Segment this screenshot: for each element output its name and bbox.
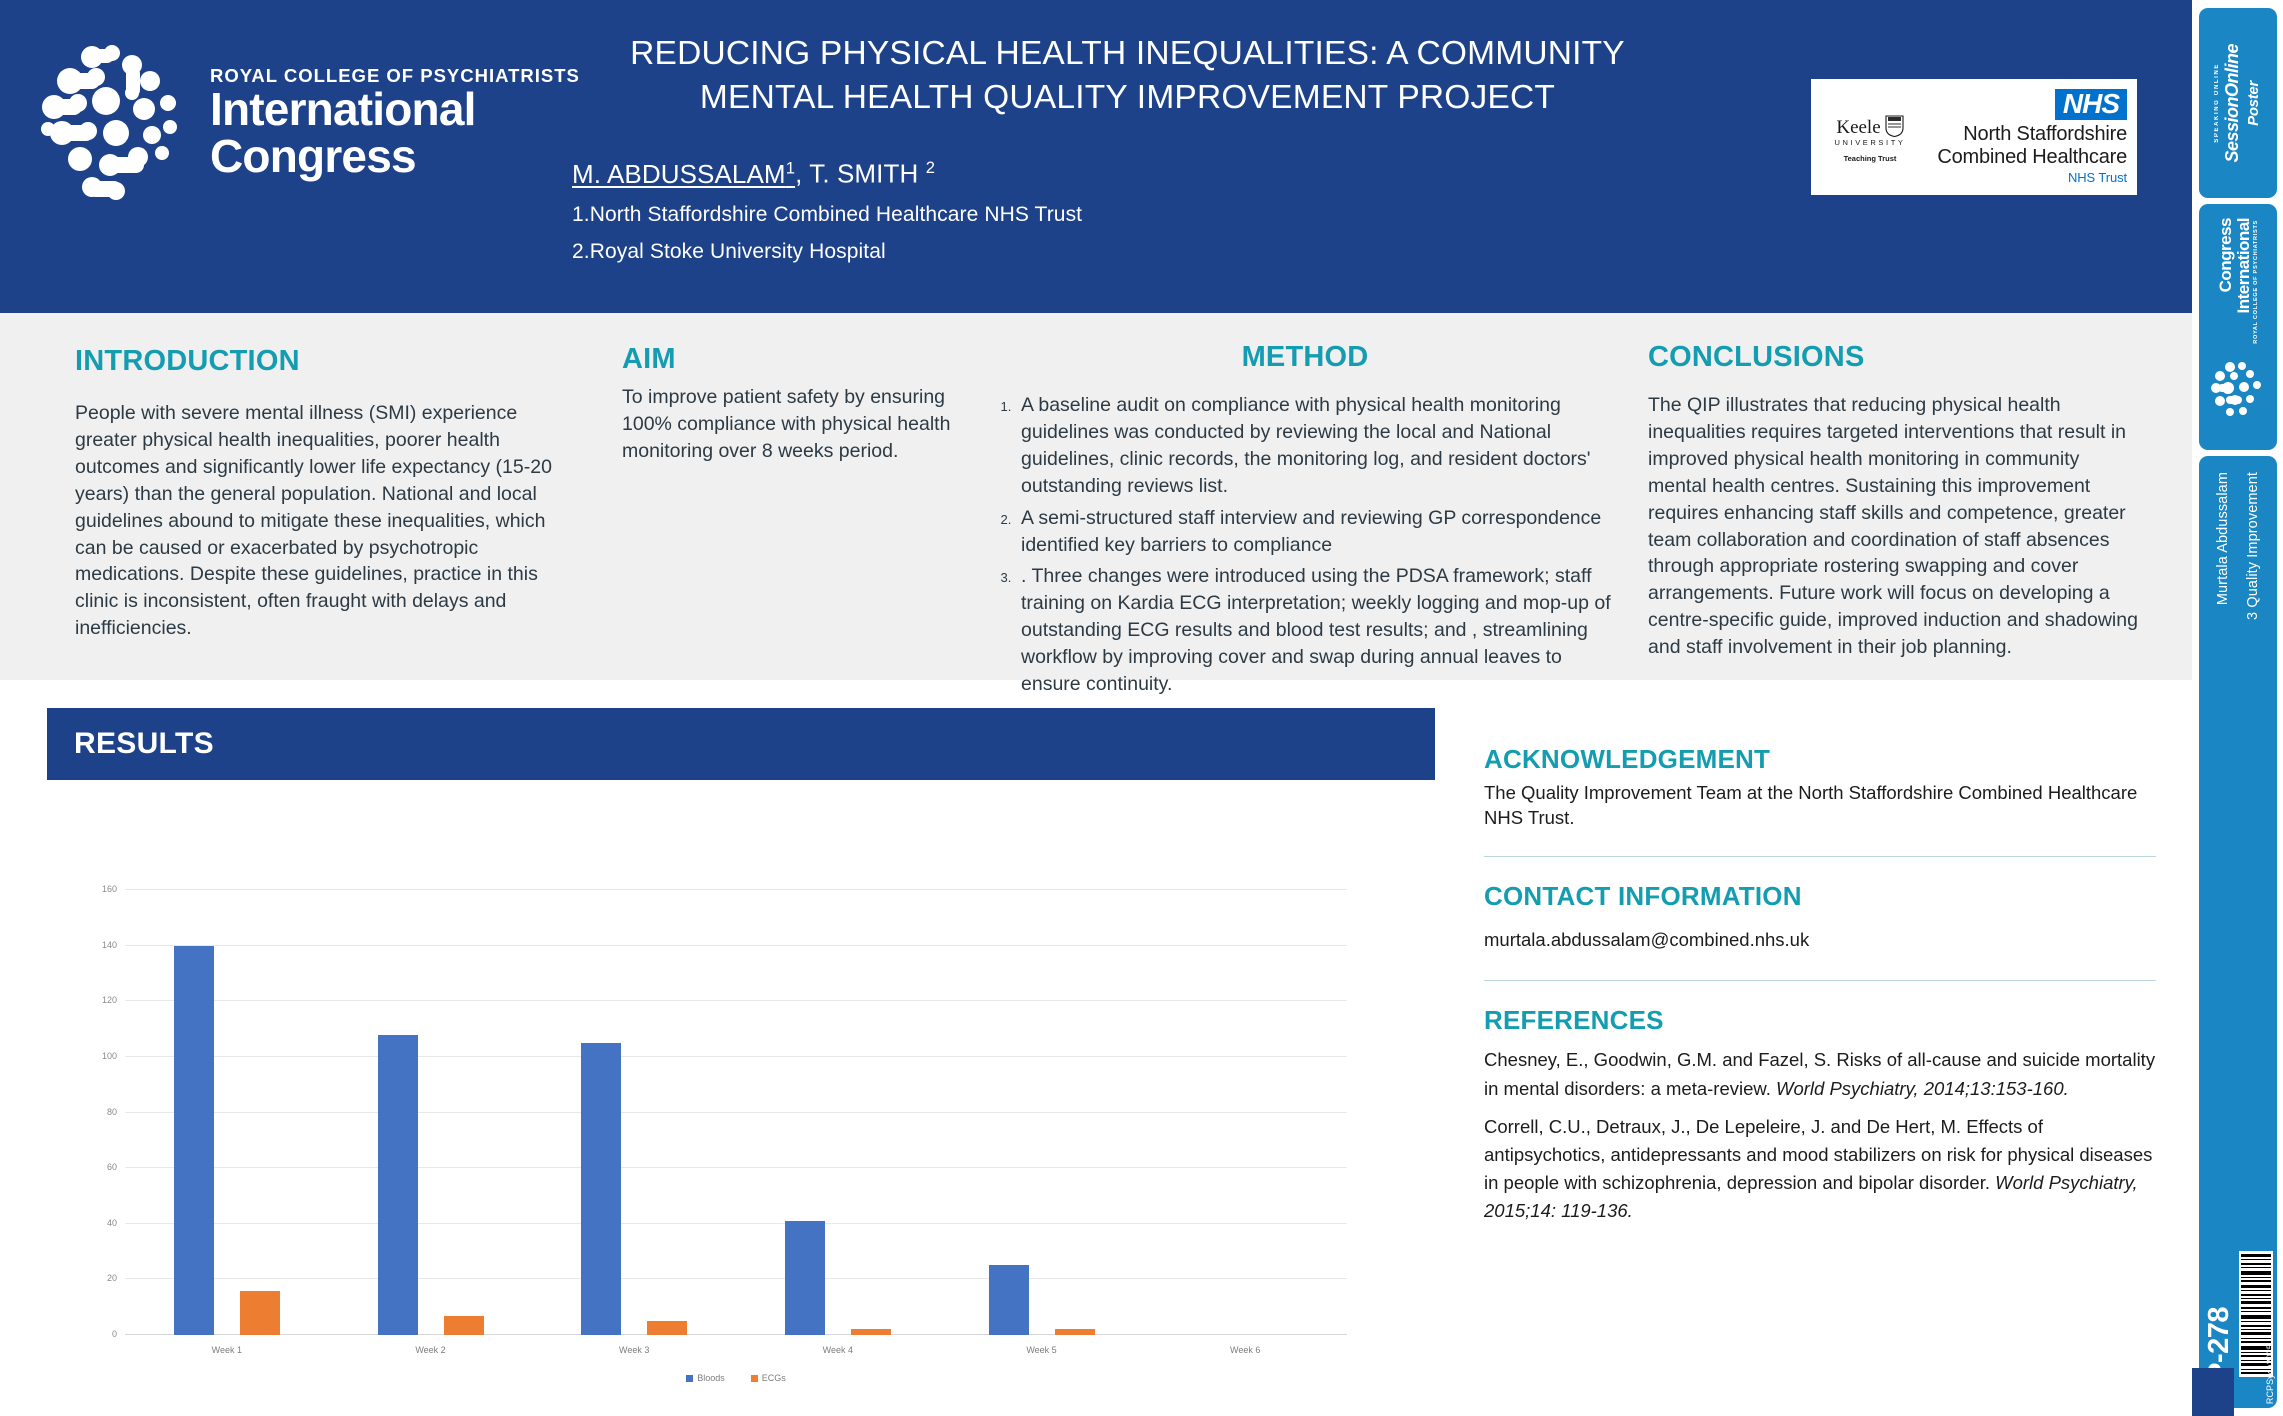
chart-legend-swatch	[751, 1375, 758, 1382]
chart-x-tick-label: Week 2	[329, 1345, 533, 1355]
reference-item: Chesney, E., Goodwin, G.M. and Fazel, S.…	[1484, 1046, 2156, 1102]
chart-x-tick-label: Week 5	[940, 1345, 1144, 1355]
congress-brand-line2: Congress	[210, 133, 580, 180]
chart-bar	[647, 1321, 687, 1335]
chart-bar	[240, 1291, 280, 1336]
poster-header: ROYAL COLLEGE OF PSYCHIATRISTS Internati…	[0, 0, 2192, 313]
congress-brand-line1: International	[210, 86, 580, 133]
results-chart: 160140120100806040200 Week 1Week 2Week 3…	[47, 800, 1303, 1390]
keele-university-logo: Keele UNIVERSITY Teaching Trust	[1811, 79, 1929, 195]
acknowledgement-heading: ACKNOWLEDGEMENT	[1484, 744, 2156, 775]
chart-legend: BloodsECGs	[125, 1373, 1347, 1383]
barcode-stripe	[2241, 1263, 2271, 1265]
chart-x-tick-label: Week 1	[125, 1345, 329, 1355]
author-secondary: , T. SMITH	[795, 159, 926, 189]
acknowledgement-body: The Quality Improvement Team at the Nort…	[1484, 780, 2156, 830]
chart-y-tick-label: 160	[102, 884, 117, 894]
event-code-label: RCPSych2025	[2265, 1344, 2275, 1404]
chart-x-tick-label: Week 6	[1143, 1345, 1347, 1355]
chart-plot-area: 160140120100806040200 Week 1Week 2Week 3…	[125, 890, 1347, 1335]
sidebar-theme-label: 3 Quality Improvement	[2245, 472, 2261, 620]
method-list-item: . Three changes were introduced using th…	[1015, 563, 1625, 698]
chart-y-tick-label: 40	[107, 1218, 117, 1228]
barcode-stripe	[2241, 1271, 2271, 1275]
author-primary-affil-marker: 1	[786, 158, 795, 177]
reference-item: Correll, C.U., Detraux, J., De Lepeleire…	[1484, 1113, 2156, 1225]
barcode-stripe	[2241, 1307, 2271, 1309]
chart-bar	[1055, 1329, 1095, 1335]
method-list: A baseline audit on compliance with phys…	[985, 392, 1625, 698]
upper-content-strip: INTRODUCTION People with severe mental i…	[0, 313, 2192, 680]
conclusions-heading: CONCLUSIONS	[1648, 341, 2143, 374]
contact-heading: CONTACT INFORMATION	[1484, 881, 2156, 912]
section-acknowledgement: ACKNOWLEDGEMENT The Quality Improvement …	[1484, 744, 2156, 830]
congress-logo: ROYAL COLLEGE OF PSYCHIATRISTS Internati…	[40, 28, 520, 218]
chart-bar	[378, 1035, 418, 1335]
section-references: REFERENCES Chesney, E., Goodwin, G.M. an…	[1484, 1005, 2156, 1225]
introduction-heading: INTRODUCTION	[75, 345, 575, 378]
keele-university-label: UNIVERSITY	[1834, 138, 1905, 147]
barcode-stripe	[2241, 1301, 2271, 1304]
section-aim: AIM To improve patient safety by ensurin…	[622, 343, 982, 465]
barcode-stripe	[2241, 1254, 2271, 1257]
affiliation-1: 1.North Staffordshire Combined Healthcar…	[572, 203, 1082, 227]
pso-word-session-online: SessionOnline	[2222, 44, 2243, 163]
chart-x-tick-label: Week 4	[736, 1345, 940, 1355]
sidebar-meta-badge: 3 Quality Improvement Murtala Abdussalam	[2199, 456, 2277, 1356]
poster-title: REDUCING PHYSICAL HEALTH INEQUALITIES: A…	[560, 32, 1695, 120]
chart-bar	[851, 1329, 891, 1335]
poster-canvas: ROYAL COLLEGE OF PSYCHIATRISTS Internati…	[0, 0, 2283, 1416]
contact-email[interactable]: murtala.abdussalam@combined.nhs.uk	[1484, 926, 2156, 954]
chart-y-tick-label: 120	[102, 995, 117, 1005]
method-list-item: A semi-structured staff interview and re…	[1015, 505, 1625, 559]
chart-bar	[444, 1316, 484, 1335]
keele-name-label: Keele	[1836, 118, 1880, 137]
chart-bar-group: Week 4	[736, 890, 940, 1335]
chart-bar-groups: Week 1Week 2Week 3Week 4Week 5Week 6	[125, 890, 1347, 1335]
chart-legend-label: Bloods	[697, 1373, 725, 1383]
chart-y-tick-label: 140	[102, 940, 117, 950]
barcode-stripe	[2241, 1332, 2271, 1335]
right-sidebar: Poster SessionOnline SPEAKING ONLINE ROY…	[2192, 0, 2283, 1416]
chart-bar-group: Week 1	[125, 890, 329, 1335]
chart-bar-group: Week 6	[1143, 890, 1347, 1335]
barcode-stripe	[2241, 1280, 2271, 1282]
barcode-stripe	[2241, 1298, 2271, 1299]
barcode-stripe	[2241, 1259, 2271, 1260]
section-introduction: INTRODUCTION People with severe mental i…	[75, 345, 575, 642]
divider-rule-2	[1484, 980, 2156, 981]
method-heading: METHOD	[985, 341, 1625, 374]
conclusions-body: The QIP illustrates that reducing physic…	[1648, 392, 2143, 661]
affiliation-2: 2.Royal Stoke University Hospital	[572, 240, 886, 264]
reference-source: World Psychiatry, 2014;13:153-160.	[1776, 1078, 2069, 1099]
results-heading: RESULTS	[74, 727, 214, 761]
chart-bar-group: Week 3	[532, 890, 736, 1335]
barcode-stripe	[2241, 1285, 2271, 1288]
poster-session-online-badge[interactable]: Poster SessionOnline SPEAKING ONLINE	[2199, 8, 2277, 198]
barcode-stripe	[2241, 1338, 2271, 1339]
author-list: M. ABDUSSALAM1, T. SMITH 2	[572, 158, 935, 190]
nhs-trust-sublabel: NHS Trust	[2068, 170, 2127, 185]
chart-y-tick-label: 20	[107, 1273, 117, 1283]
barcode-stripe	[2241, 1341, 2271, 1343]
barcode-stripe	[2241, 1325, 2271, 1327]
divider-rule-1	[1484, 856, 2156, 857]
institution-logos-box: Keele UNIVERSITY Teaching Trust NHS Nort…	[1811, 79, 2137, 195]
chart-bar	[989, 1265, 1029, 1335]
chart-legend-swatch	[686, 1375, 693, 1382]
method-list-item: A baseline audit on compliance with phys…	[1015, 392, 1625, 500]
right-column: ACKNOWLEDGEMENT The Quality Improvement …	[1484, 744, 2156, 1225]
chart-legend-item: ECGs	[751, 1373, 786, 1383]
sidebar-congress-line2: Congress	[2217, 218, 2234, 292]
author-primary: M. ABDUSSALAM	[572, 159, 786, 189]
barcode-stripe	[2241, 1267, 2271, 1268]
pso-tagline: SPEAKING ONLINE	[2214, 63, 2220, 143]
nhs-mark-icon: NHS	[2055, 89, 2127, 120]
sidebar-congress-badge: ROYAL COLLEGE OF PSYCHIATRISTS Internati…	[2199, 204, 2277, 450]
introduction-body: People with severe mental illness (SMI) …	[75, 400, 575, 642]
section-conclusions: CONCLUSIONS The QIP illustrates that red…	[1648, 341, 2143, 661]
author-secondary-affil-marker: 2	[926, 158, 935, 177]
chart-bar-group: Week 5	[940, 890, 1144, 1335]
chart-x-tick-label: Week 3	[532, 1345, 736, 1355]
congress-brain-logo-icon	[40, 41, 188, 206]
aim-heading: AIM	[622, 343, 982, 376]
barcode-stripe	[2241, 1311, 2271, 1312]
section-method: METHOD A baseline audit on compliance wi…	[985, 341, 1625, 703]
keele-teaching-trust-label: Teaching Trust	[1844, 154, 1897, 163]
barcode-stripe	[2241, 1290, 2271, 1291]
sidebar-congress-org: ROYAL COLLEGE OF PSYCHIATRISTS	[2253, 220, 2259, 344]
section-contact: CONTACT INFORMATION murtala.abdussalam@c…	[1484, 881, 2156, 954]
nhs-trust-line2: Combined Healthcare	[1937, 146, 2127, 168]
nhs-trust-logo: NHS North Staffordshire Combined Healthc…	[1929, 89, 2137, 185]
chart-bar	[785, 1221, 825, 1335]
sidebar-presenter-label: Murtala Abdussalam	[2215, 472, 2231, 605]
chart-bar	[174, 946, 214, 1335]
sidebar-congress-line1: International	[2235, 218, 2252, 314]
chart-y-tick-label: 60	[107, 1162, 117, 1172]
chart-y-tick-label: 100	[102, 1051, 117, 1061]
nhs-trust-line1: North Staffordshire	[1937, 123, 2127, 145]
references-heading: REFERENCES	[1484, 1005, 2156, 1036]
chart-bar	[581, 1043, 621, 1335]
pso-word-poster: Poster	[2245, 81, 2262, 126]
chart-y-tick-label: 80	[107, 1107, 117, 1117]
barcode-stripe	[2241, 1321, 2271, 1322]
chart-legend-item: Bloods	[686, 1373, 725, 1383]
aim-body: To improve patient safety by ensuring 10…	[622, 384, 982, 465]
barcode-stripe	[2241, 1277, 2271, 1278]
barcode-stripe	[2241, 1315, 2271, 1319]
barcode-stripe	[2241, 1294, 2271, 1296]
barcode-stripe	[2241, 1329, 2271, 1330]
sidebar-brain-logo-icon	[2210, 360, 2266, 422]
keele-shield-icon	[1885, 115, 1904, 137]
sidebar-footer-tab	[2192, 1368, 2234, 1416]
chart-bar-group: Week 2	[329, 890, 533, 1335]
results-header-bar: RESULTS	[47, 708, 1435, 780]
chart-y-tick-label: 0	[112, 1329, 117, 1339]
chart-legend-label: ECGs	[762, 1373, 786, 1383]
